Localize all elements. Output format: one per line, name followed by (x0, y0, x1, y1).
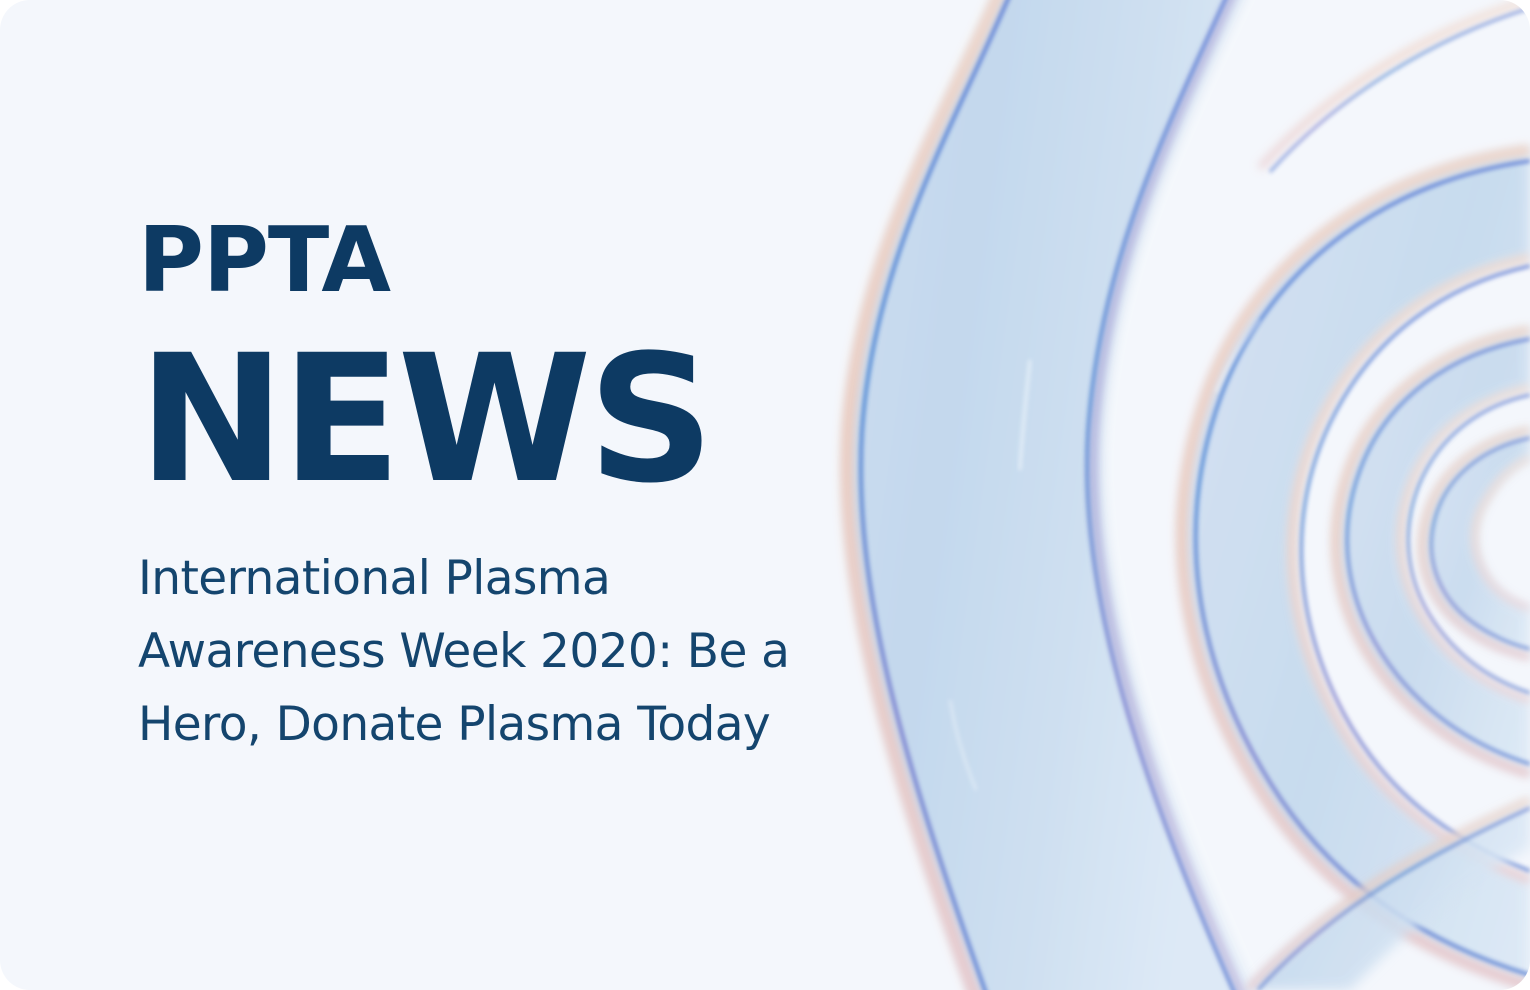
ribbon-third (1336, 330, 1530, 774)
page-title: NEWS (138, 332, 710, 508)
ribbon-strands-top (1260, 0, 1530, 172)
ribbon-tail (1248, 800, 1530, 990)
article-title: International Plasma Awareness Week 2020… (138, 542, 868, 761)
ribbon-outer (847, 0, 1260, 990)
plasma-ribbon-waves-artwork (830, 0, 1530, 990)
card-content: PPTA NEWS International Plasma Awareness… (138, 0, 898, 990)
ribbon-second (1182, 150, 1530, 986)
brand-kicker: PPTA (138, 216, 390, 306)
ribbon-inner (1422, 430, 1530, 657)
news-card: PPTA NEWS International Plasma Awareness… (0, 0, 1530, 990)
